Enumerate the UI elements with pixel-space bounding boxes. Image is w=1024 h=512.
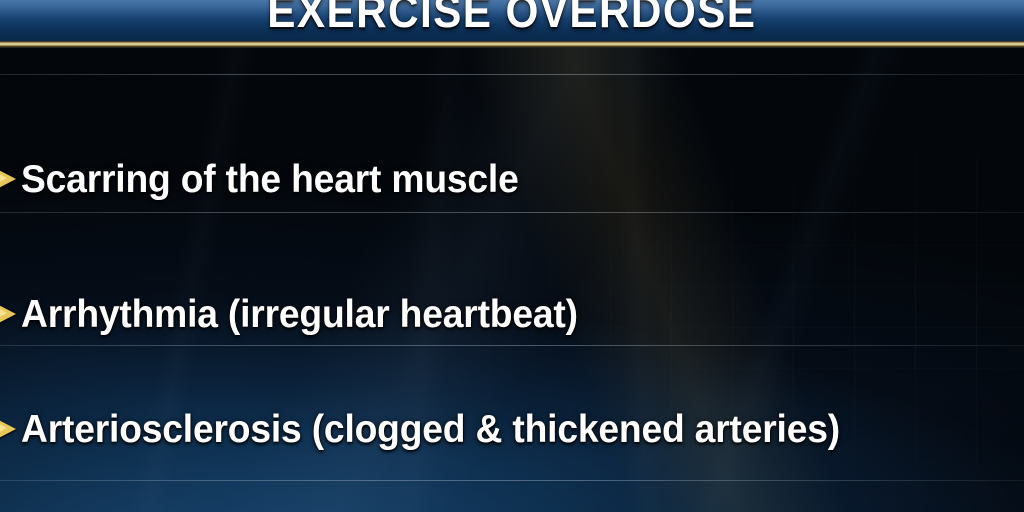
list-item: Scarring of the heart muscle bbox=[0, 156, 1024, 204]
list-item: Arteriosclerosis (clogged & thickened ar… bbox=[0, 406, 1024, 454]
title-bar: EXERCISE OVERDOSE bbox=[0, 0, 1024, 40]
row-divider bbox=[0, 74, 1024, 75]
triangle-right-icon bbox=[0, 406, 21, 450]
row-divider bbox=[0, 345, 1024, 346]
list-item-label: Scarring of the heart muscle bbox=[21, 156, 979, 204]
row-divider bbox=[0, 212, 1024, 213]
list-item: Arrhythmia (irregular heartbeat) bbox=[0, 291, 1024, 339]
broadcast-graphic: EXERCISE OVERDOSE Scarring of the heart … bbox=[0, 0, 1024, 512]
row-divider bbox=[0, 480, 1024, 481]
triangle-right-icon bbox=[0, 156, 21, 200]
list-item-label: Arrhythmia (irregular heartbeat) bbox=[21, 291, 979, 339]
triangle-right-icon bbox=[0, 291, 21, 335]
page-title: EXERCISE OVERDOSE bbox=[267, 0, 756, 34]
gold-divider-rule bbox=[0, 40, 1024, 48]
bullet-list: Scarring of the heart muscle Arrhythmia … bbox=[0, 48, 1024, 512]
list-item-label: Arteriosclerosis (clogged & thickened ar… bbox=[21, 406, 979, 454]
